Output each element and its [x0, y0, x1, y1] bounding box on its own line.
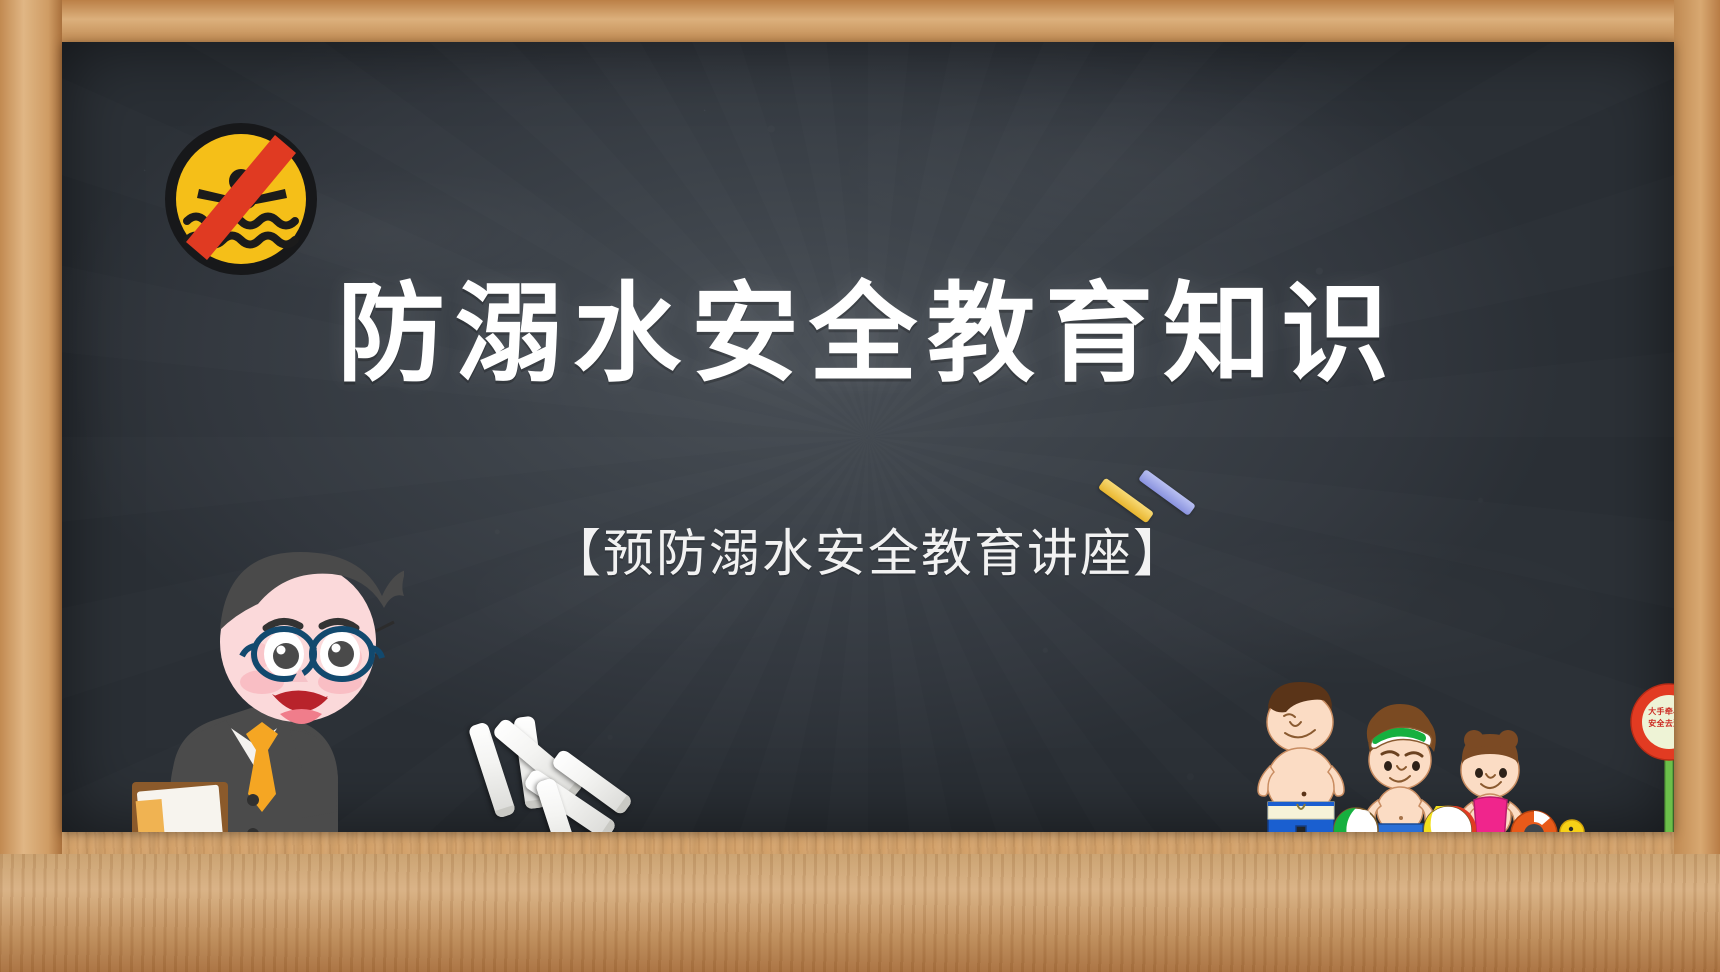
teacher-folder — [132, 782, 228, 832]
watermark-mark: · — [139, 162, 150, 177]
title-block: 防溺水安全教育知识 — [62, 274, 1674, 395]
page-subtitle: 【预防溺水安全教育讲座】 — [550, 512, 1186, 586]
sign-line-1: 大手牵小手 — [1631, 706, 1674, 717]
page-title: 防溺水安全教育知识 — [337, 274, 1399, 395]
jacket-button — [247, 794, 259, 806]
cartoon-teacher — [114, 482, 404, 832]
kid-boy-big — [1258, 682, 1344, 832]
eye — [1475, 768, 1483, 778]
eye — [1384, 761, 1392, 771]
safety-pole-sign: 大手牵小手 安全去游泳 — [1617, 682, 1674, 832]
watermark-mark: · — [699, 102, 710, 117]
eye — [1412, 761, 1420, 771]
frame-rail-bottom — [0, 854, 1720, 972]
frame-rail-top — [0, 0, 1720, 42]
kid-boy-goggles — [1366, 704, 1436, 832]
swim-trunks — [1378, 824, 1423, 832]
chalk-sticks — [440, 728, 650, 832]
blackboard: · · 防溺水安全教育知识 — [62, 42, 1674, 832]
slide-root: · · 防溺水安全教育知识 — [0, 0, 1720, 972]
rubber-duck — [1554, 814, 1610, 832]
frame-rail-right — [1674, 0, 1720, 972]
swimsuit — [1474, 797, 1507, 832]
kids-group — [1142, 678, 1562, 832]
no-swimming-sign — [163, 121, 319, 277]
pencil-group — [1092, 480, 1222, 550]
frame-rail-left — [0, 0, 62, 972]
teacher-head — [220, 552, 404, 724]
eye — [1499, 768, 1507, 778]
sign-line-2: 安全去游泳 — [1631, 718, 1674, 729]
